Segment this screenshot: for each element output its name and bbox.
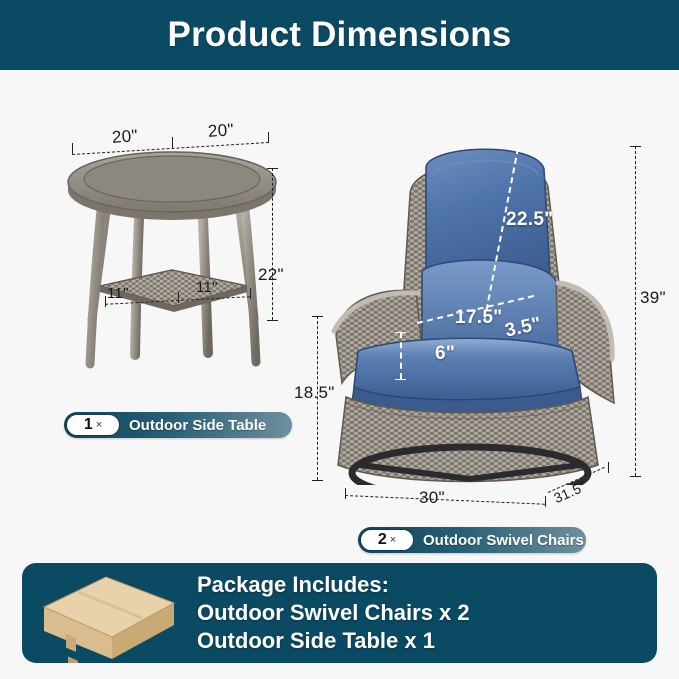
package-line-2: Outdoor Swivel Chairs x 2 [197, 599, 470, 627]
table-shelf-tick-right [250, 288, 251, 299]
side-table-count-oval: 1 × [66, 414, 120, 436]
swivel-chair-label: Outdoor Swivel Chairs [423, 532, 584, 549]
table-shelf-right-label: 11" [196, 279, 218, 296]
chair-seat-height-label: 18.5" [294, 383, 335, 403]
chair-total-height-tick-top [630, 146, 641, 147]
chair-cushion-tick-top [395, 332, 406, 333]
package-text-block: Package Includes: Outdoor Swivel Chairs … [197, 571, 470, 655]
chair-width-label: 30" [419, 488, 445, 508]
chair-seat-height-tick-bottom [312, 480, 323, 481]
side-table-count: 1 [84, 417, 93, 433]
side-table-illustration [62, 150, 282, 405]
chair-seat-height-tick-top [312, 316, 323, 317]
swivel-chair-count-oval: 2 × [360, 529, 414, 551]
table-height-tick-top [267, 168, 278, 169]
table-shelf-tick-center [178, 292, 179, 303]
package-line-3: Outdoor Side Table x 1 [197, 627, 470, 655]
chair-total-height-line [635, 146, 636, 476]
cardboard-box-icon [22, 563, 197, 663]
chair-depth-tick-right [608, 462, 609, 473]
table-shelf-left-label: 11" [107, 285, 129, 302]
table-height-tick-bottom [267, 320, 278, 321]
chair-width-tick-right [545, 496, 546, 507]
header-banner: Product Dimensions [0, 0, 679, 70]
chair-total-height-label: 39" [640, 288, 666, 308]
chair-cushion-height-line [400, 332, 402, 379]
multiplier-icon: × [96, 420, 102, 431]
product-dimensions-infographic: Product Dimensions [0, 0, 679, 679]
table-width-left-label: 20" [111, 126, 138, 148]
package-includes-panel: Package Includes: Outdoor Swivel Chairs … [22, 563, 657, 663]
table-top-tick-left [72, 143, 73, 154]
chair-cushion-height-label: 6" [435, 343, 455, 365]
chair-width-line [345, 495, 545, 505]
cardboard-box-svg [22, 563, 197, 663]
side-table-label: Outdoor Side Table [129, 417, 266, 434]
chair-width-tick-left [345, 488, 346, 499]
package-line-1: Package Includes: [197, 571, 470, 599]
page-title: Product Dimensions [168, 15, 512, 55]
side-table-badge: 1 × Outdoor Side Table [64, 412, 292, 438]
chair-seat-depth-label: 17.5" [455, 307, 503, 329]
chair-total-height-tick-bottom [630, 476, 641, 477]
table-height-dimension-line [272, 168, 273, 320]
chair-cushion-tick-bottom [395, 379, 406, 380]
multiplier-icon: × [390, 535, 396, 546]
table-height-label: 22" [258, 265, 284, 285]
table-top-tick-right [268, 132, 269, 143]
side-table-svg [62, 150, 282, 405]
table-width-right-label: 20" [207, 120, 234, 142]
chair-back-height-label: 22.5" [506, 209, 554, 231]
swivel-chair-badge: 2 × Outdoor Swivel Chairs [358, 527, 586, 553]
table-shelf-tick-left [105, 296, 106, 307]
swivel-chair-count: 2 [378, 532, 387, 548]
table-top-tick-center [172, 137, 173, 148]
